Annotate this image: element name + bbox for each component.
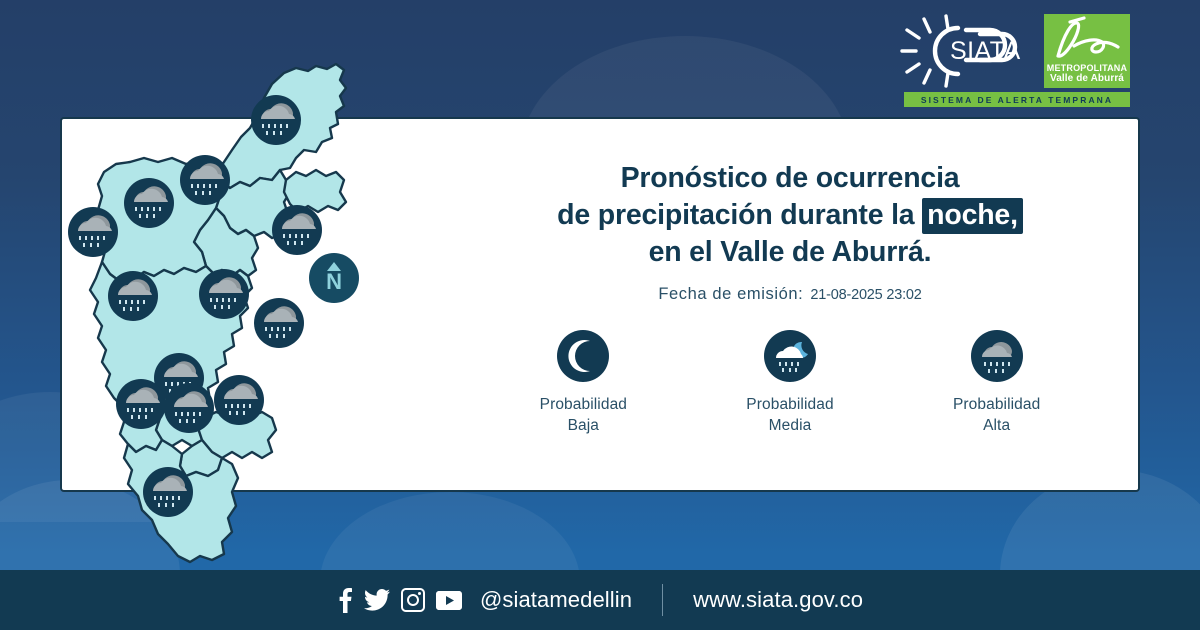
legend-baja-line1: Probabilidad (540, 395, 627, 416)
legend-alta-line2: Alta (953, 416, 1040, 437)
facebook-icon[interactable] (337, 587, 353, 613)
legend-media-line2: Media (746, 416, 833, 437)
legend-item-baja: Probabilidad Baja (498, 330, 668, 437)
headline-highlight-noche: noche, (922, 198, 1023, 234)
headline-line2-prefix: de precipitación durante la (557, 199, 922, 231)
map-marker-02 (180, 155, 230, 205)
map-marker-07 (199, 269, 249, 319)
area-subtitle: METROPOLITANA Valle de Aburrá (1044, 64, 1130, 84)
emission-date-label: Fecha de emisión: (658, 285, 803, 304)
emission-date-value: 21-08-2025 23:02 (810, 287, 921, 303)
probability-legend: Probabilidad Baja Probabilidad Media (480, 330, 1100, 437)
footer-divider (662, 584, 663, 616)
map-marker-03 (124, 178, 174, 228)
page-title: Pronóstico de ocurrencia de precipitació… (480, 160, 1100, 271)
map-marker-11 (164, 383, 214, 433)
legend-item-alta: Probabilidad Alta (912, 330, 1082, 437)
map-marker-10 (116, 379, 166, 429)
legend-media-line1: Probabilidad (746, 395, 833, 416)
headline-line1: Pronóstico de ocurrencia (621, 162, 960, 194)
website-url[interactable]: www.siata.gov.co (693, 587, 863, 613)
legend-label-media: Probabilidad Media (746, 395, 833, 437)
area-metropolitana-logo: METROPOLITANA Valle de Aburrá (1044, 14, 1130, 88)
legend-baja-line2: Baja (540, 416, 627, 437)
footer-bar: @siatamedellin www.siata.gov.co (0, 570, 1200, 630)
compass-north-icon: N (309, 253, 359, 303)
social-handle[interactable]: @siatamedellin (480, 587, 632, 613)
map-marker-13 (143, 467, 193, 517)
map-marker-08 (254, 298, 304, 348)
twitter-icon[interactable] (364, 589, 390, 611)
moon-cloud-rain-icon (764, 330, 816, 382)
legend-label-alta: Probabilidad Alta (953, 395, 1040, 437)
legend-item-media: Probabilidad Media (705, 330, 875, 437)
map-marker-04 (272, 205, 322, 255)
map-marker-12 (214, 375, 264, 425)
valle-de-aburra-map: N (44, 40, 404, 570)
alerta-temprana-banner: SISTEMA DE ALERTA TEMPRANA (904, 92, 1130, 107)
siata-wordmark: SIATA (950, 37, 1021, 65)
emission-date: Fecha de emisión: 21-08-2025 23:02 (480, 285, 1100, 304)
headline-line3: en el Valle de Aburrá. (649, 236, 932, 268)
map-marker-01 (251, 95, 301, 145)
compass-label: N (326, 269, 342, 294)
forecast-text-block: Pronóstico de ocurrencia de precipitació… (480, 160, 1100, 304)
instagram-icon[interactable] (401, 588, 425, 612)
brand-logos: SIATA METROPOLITANA Valle de Aburrá SIST… (894, 14, 1130, 107)
logo-row: SIATA METROPOLITANA Valle de Aburrá (894, 14, 1130, 88)
legend-label-baja: Probabilidad Baja (540, 395, 627, 437)
moon-icon (557, 330, 609, 382)
legend-alta-line1: Probabilidad (953, 395, 1040, 416)
map-marker-05 (68, 207, 118, 257)
social-icons (337, 587, 462, 613)
area-script-icon (1058, 18, 1118, 56)
siata-logo: SIATA (894, 14, 1034, 88)
youtube-icon[interactable] (436, 591, 462, 610)
cloud-rain-icon (971, 330, 1023, 382)
map-marker-06 (108, 271, 158, 321)
area-line2: Valle de Aburrá (1044, 74, 1130, 84)
